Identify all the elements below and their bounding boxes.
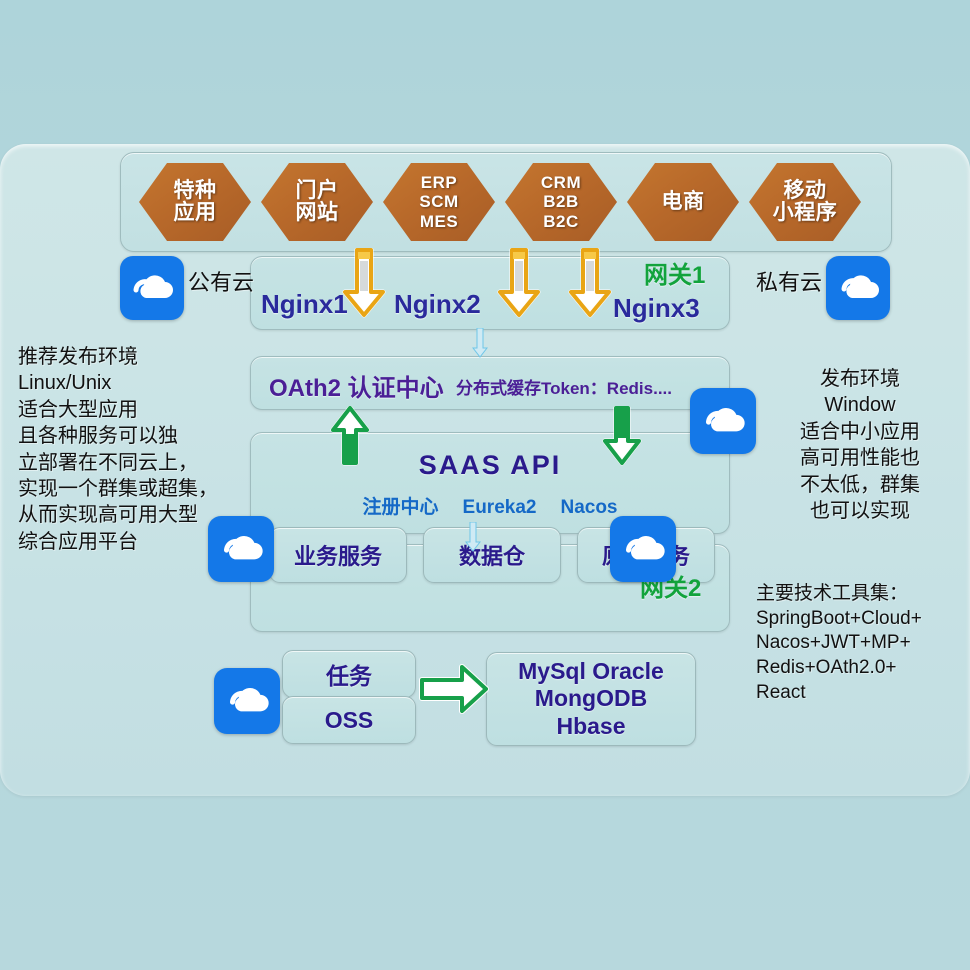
database-line3: Hbase — [556, 713, 625, 740]
note-left: 推荐发布环境 Linux/Unix 适合大型应用 且各种服务可以独 立部署在不同… — [18, 344, 238, 555]
registry-label: 注册中心 — [363, 497, 439, 518]
app-hex-erp-label: ERPSCMMES — [419, 173, 458, 230]
oss-label: OSS — [325, 707, 374, 734]
nginx2-label: Nginx2 — [394, 289, 481, 320]
task-tile[interactable]: 任务 — [282, 650, 416, 698]
app-hex-mobile-label: 移动小程序 — [773, 180, 838, 225]
app-hex-crm-label: CRMB2BB2C — [541, 173, 581, 230]
service-business-label: 业务服务 — [294, 539, 382, 571]
arrow-down-yellow-2 — [497, 248, 541, 318]
private-cloud-label: 私有云 — [756, 268, 822, 297]
app-hex-mobile[interactable]: 移动小程序 — [749, 163, 861, 241]
nginx3-label: Nginx3 — [613, 293, 700, 324]
saas-registry-row: 注册中心Eureka2Nacos — [251, 492, 729, 519]
arrow-down-yellow-3 — [568, 248, 612, 318]
cloud-icon-public[interactable] — [120, 256, 184, 320]
main-panel: 特种应用 门户网站 ERPSCMMES CRMB2BB2C 电商 移动小程序 N… — [0, 144, 970, 796]
oss-tile[interactable]: OSS — [282, 696, 416, 744]
connector-saas-services — [465, 522, 481, 557]
app-hex-portal[interactable]: 门户网站 — [261, 163, 373, 241]
service-warehouse[interactable]: 数据仓 — [423, 527, 561, 583]
eureka-label: Eureka2 — [463, 497, 537, 518]
saas-api-title: SAAS API — [251, 450, 729, 481]
cloud-icon-private[interactable] — [826, 256, 890, 320]
oauth-panel: OAth2 认证中心 分布式缓存Token：Redis.... — [250, 356, 730, 410]
nacos-label: Nacos — [560, 497, 617, 518]
nginx1-label: Nginx1 — [261, 289, 348, 320]
database-line2: MongODB — [535, 685, 647, 712]
app-hex-ecom-label: 电商 — [662, 191, 705, 213]
gateway1-label: 网关1 — [644, 255, 705, 290]
oauth-title: OAth2 认证中心 — [269, 368, 444, 403]
app-hex-erp[interactable]: ERPSCMMES — [383, 163, 495, 241]
app-hex-portal-label: 门户网站 — [296, 180, 339, 225]
public-cloud-label: 公有云 — [188, 268, 254, 297]
oauth-subtitle: 分布式缓存Token：Redis.... — [456, 374, 672, 399]
architecture-diagram: 特种应用 门户网站 ERPSCMMES CRMB2BB2C 电商 移动小程序 N… — [0, 0, 970, 970]
arrow-down-yellow-1 — [342, 248, 386, 318]
note-tech-stack: 主要技术工具集： SpringBoot+Cloud+ Nacos+JWT+MP+… — [756, 582, 970, 705]
cloud-icon-oauth[interactable] — [690, 388, 756, 454]
application-layer-strip: 特种应用 门户网站 ERPSCMMES CRMB2BB2C 电商 移动小程序 — [120, 152, 892, 252]
app-hex-special[interactable]: 特种应用 — [139, 163, 251, 241]
database-tile[interactable]: MySql Oracle MongODB Hbase — [486, 652, 696, 746]
arrow-up-green — [330, 406, 370, 466]
app-hex-special-label: 特种应用 — [174, 180, 217, 225]
connector-gateway-oauth — [472, 328, 488, 363]
task-label: 任务 — [326, 657, 372, 691]
gateway1-panel: Nginx1 Nginx2 Nginx3 网关1 — [250, 256, 730, 330]
cloud-icon-storage[interactable] — [214, 668, 280, 734]
database-line1: MySql Oracle — [518, 658, 664, 685]
service-business[interactable]: 业务服务 — [269, 527, 407, 583]
note-right: 发布环境 Window 适合中小应用 高可用性能也 不太低，群集 也可以实现 — [762, 366, 958, 524]
arrow-down-green — [602, 406, 642, 466]
app-hex-crm[interactable]: CRMB2BB2C — [505, 163, 617, 241]
app-hex-ecom[interactable]: 电商 — [627, 163, 739, 241]
cloud-icon-gateway2[interactable] — [610, 516, 676, 582]
arrow-right-green — [418, 661, 490, 717]
